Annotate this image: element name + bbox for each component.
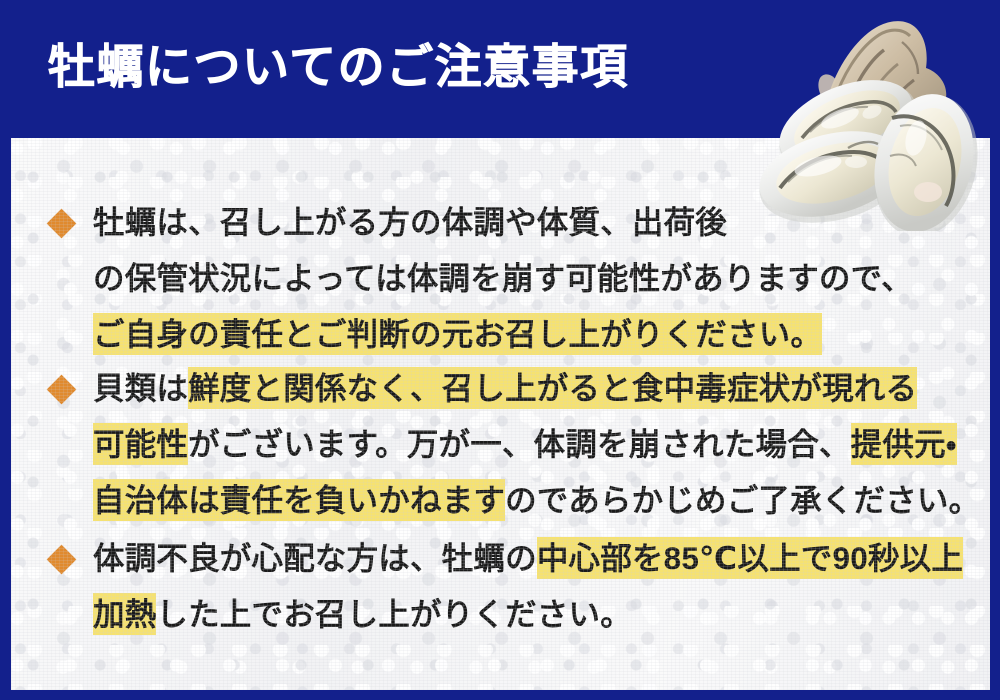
notice-line: ご自身の責任とご判断の元お召し上がりください。 <box>51 306 981 362</box>
notice-text: のであらかじめご了承ください。 <box>505 482 980 518</box>
notice-text: 牡蠣は、召し上がる方の体調や体質、出荷後 <box>93 204 727 240</box>
highlighted-text: 加熱 <box>93 593 156 635</box>
highlighted-text: 自治体は責任を負いかねます <box>93 479 505 521</box>
notice-line: 加熱した上でお召し上がりください。 <box>51 586 981 642</box>
notice-item: 貝類は鮮度と関係なく、召し上がると食中毒症状が現れる可能性がございます。万が一、… <box>51 360 981 528</box>
notice-text: がございます。万が一、体調を崩された場合、 <box>188 426 851 462</box>
highlighted-text: 提供元・ <box>851 423 957 465</box>
notice-item: 牡蠣は、召し上がる方の体調や体質、出荷後の保管状況によっては体調を崩す可能性があ… <box>51 194 981 362</box>
notice-line: 可能性がございます。万が一、体調を崩された場合、提供元・ <box>51 416 981 472</box>
page-title: 牡蠣についてのご注意事項 <box>48 38 629 96</box>
oyster-notice-poster: 牡蠣についてのご注意事項 牡蠣は、召し上がる方の体調や体質、出荷後の保管状況によ… <box>0 0 1000 700</box>
notice-line: の保管状況によっては体調を崩す可能性がありますので、 <box>51 250 981 306</box>
highlighted-text: 鮮度と関係なく、召し上がると食中毒症状が現れる <box>188 367 917 409</box>
notice-text: 体調不良が心配な方は、牡蠣の <box>93 540 537 576</box>
bullet-slot <box>51 530 93 586</box>
diamond-bullet-icon <box>47 545 77 575</box>
diamond-bullet-icon <box>47 375 77 405</box>
notice-text: した上でお召し上がりください。 <box>156 596 632 632</box>
notice-text: 貝類は <box>93 370 188 406</box>
header-band: 牡蠣についてのご注意事項 <box>0 0 1000 138</box>
highlighted-text: ご自身の責任とご判断の元お召し上がりください。 <box>93 313 822 355</box>
diamond-bullet-icon <box>47 209 77 239</box>
notice-paper-panel: 牡蠣は、召し上がる方の体調や体質、出荷後の保管状況によっては体調を崩す可能性があ… <box>11 138 990 690</box>
notice-line: 貝類は鮮度と関係なく、召し上がると食中毒症状が現れる <box>51 360 981 416</box>
bullet-slot <box>51 194 93 250</box>
notice-item: 体調不良が心配な方は、牡蠣の中心部を85℃以上で90秒以上加熱した上でお召し上が… <box>51 530 981 642</box>
notice-line: 牡蠣は、召し上がる方の体調や体質、出荷後 <box>51 194 981 250</box>
notice-line: 体調不良が心配な方は、牡蠣の中心部を85℃以上で90秒以上 <box>51 530 981 586</box>
highlighted-text: 可能性 <box>93 423 188 465</box>
highlighted-text: 中心部を85℃以上で90秒以上 <box>537 537 963 579</box>
notice-line: 自治体は責任を負いかねますのであらかじめご了承ください。 <box>51 472 981 528</box>
notice-list: 牡蠣は、召し上がる方の体調や体質、出荷後の保管状況によっては体調を崩す可能性があ… <box>11 138 990 690</box>
bullet-slot <box>51 360 93 416</box>
notice-text: の保管状況によっては体調を崩す可能性がありますので、 <box>93 260 913 296</box>
